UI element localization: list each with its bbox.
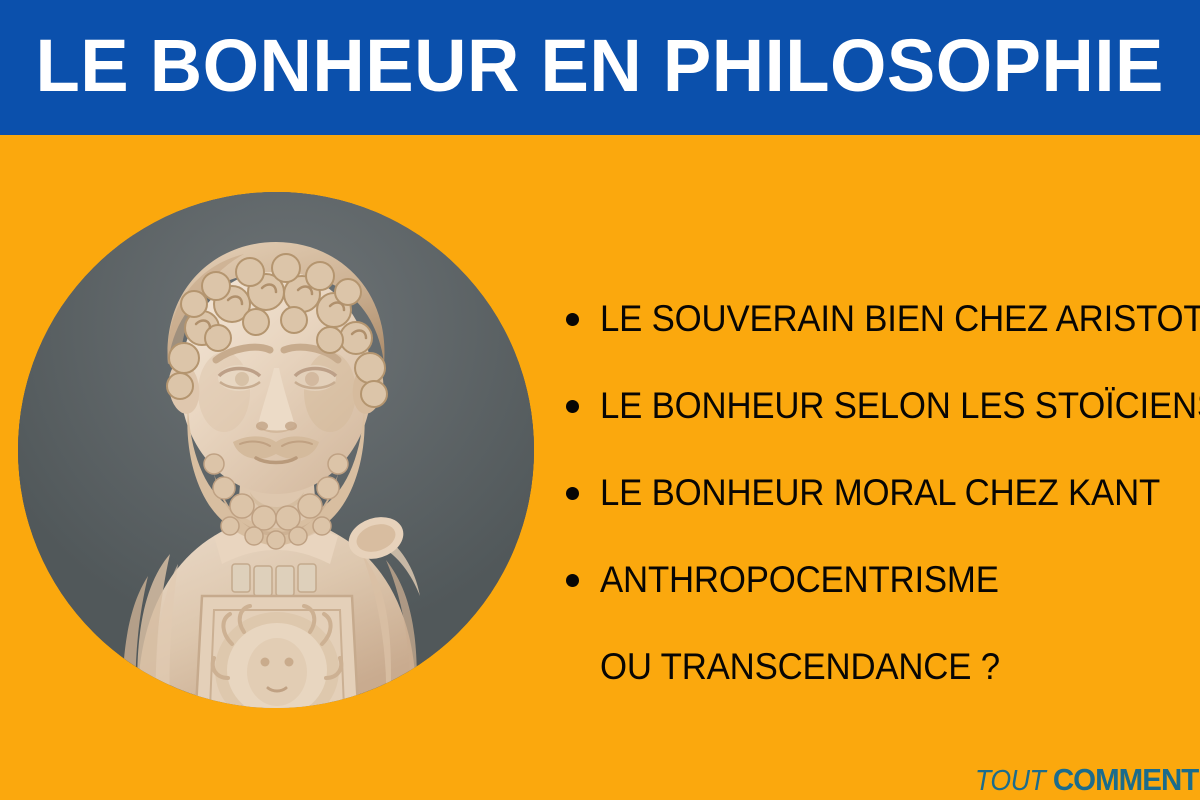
list-item-label: LE SOUVERAIN BIEN CHEZ ARISTOTE: [600, 300, 1200, 337]
list-item-label: OU TRANSCENDANCE ?: [600, 648, 1000, 685]
slide-body: LE SOUVERAIN BIEN CHEZ ARISTOTE LE BONHE…: [0, 135, 1200, 800]
list-item: LE SOUVERAIN BIEN CHEZ ARISTOTE: [562, 275, 1192, 362]
list-item: LE BONHEUR SELON LES STOÏCIENS: [562, 362, 1192, 449]
topic-list: LE SOUVERAIN BIEN CHEZ ARISTOTE LE BONHE…: [562, 275, 1192, 710]
bullet-dot-icon: [566, 574, 579, 587]
list-item: ANTHROPOCENTRISME: [562, 536, 1192, 623]
list-item: LE BONHEUR MORAL CHEZ KANT: [562, 449, 1192, 536]
brand-logo-tout: TOUT: [975, 767, 1045, 796]
list-item-label: LE BONHEUR SELON LES STOÏCIENS: [600, 387, 1200, 424]
bullet-dot-icon: [566, 313, 579, 326]
bullet-dot-icon: [566, 487, 579, 500]
list-item-label: LE BONHEUR MORAL CHEZ KANT: [600, 474, 1160, 511]
roman-bust-image: [18, 192, 534, 708]
brand-logo-comment: COMMENT: [1053, 764, 1198, 795]
portrait-circle: [18, 192, 534, 708]
header-banner: LE BONHEUR EN PHILOSOPHIE: [0, 0, 1200, 135]
list-item-continuation: OU TRANSCENDANCE ?: [562, 623, 1192, 710]
list-item-label: ANTHROPOCENTRISME: [600, 561, 999, 598]
page-title: LE BONHEUR EN PHILOSOPHIE: [36, 29, 1164, 107]
bullet-dot-icon: [566, 400, 579, 413]
brand-logo: TOUT COMMENT: [972, 764, 1200, 796]
slide-canvas: LE BONHEUR EN PHILOSOPHIE: [0, 0, 1200, 800]
